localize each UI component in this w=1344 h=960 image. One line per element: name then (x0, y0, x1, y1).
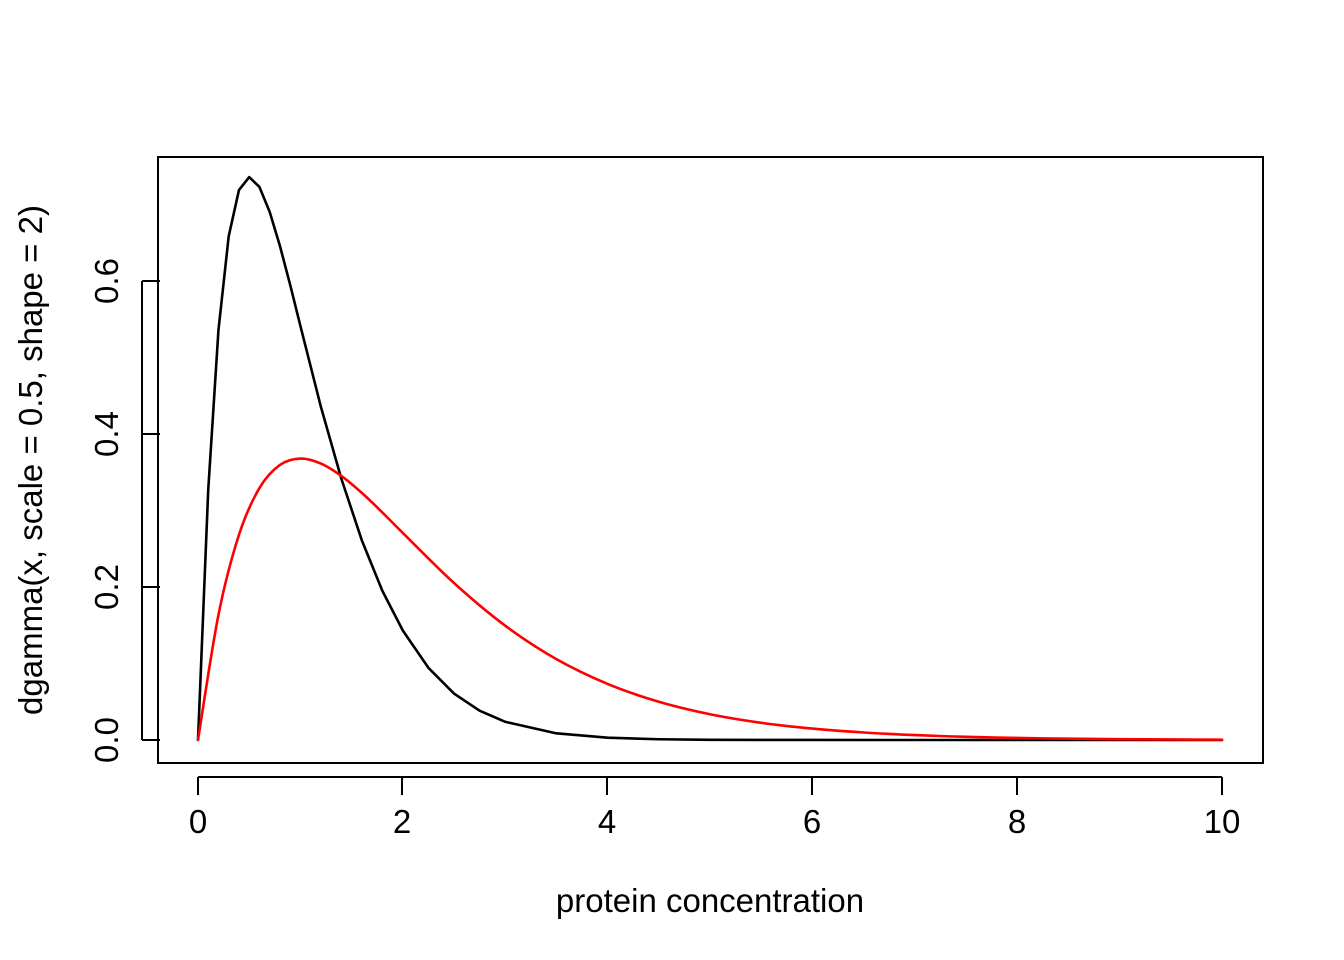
chart-figure: 0 2 4 6 8 10 0.0 0.2 0.4 0.6 protein con… (0, 0, 1344, 960)
y-tick-label-0: 0.0 (88, 717, 125, 763)
plot-frame-box (158, 157, 1263, 763)
y-tick-label-3: 0.6 (88, 258, 125, 304)
gamma-density-plot: 0 2 4 6 8 10 0.0 0.2 0.4 0.6 protein con… (0, 0, 1344, 960)
curve-black-scale-0.5 (198, 177, 1222, 740)
x-tick-label-1: 2 (393, 803, 411, 840)
y-tick-label-2: 0.4 (88, 411, 125, 457)
y-axis-title: dgamma(x, scale = 0.5, shape = 2) (12, 205, 49, 715)
x-axis-title: protein concentration (556, 882, 864, 919)
y-tick-label-1: 0.2 (88, 564, 125, 610)
x-tick-label-3: 6 (803, 803, 821, 840)
x-axis-ticks (198, 777, 1222, 795)
data-curves (198, 177, 1222, 740)
x-tick-label-0: 0 (189, 803, 207, 840)
x-tick-label-5: 10 (1204, 803, 1241, 840)
x-tick-label-4: 8 (1008, 803, 1026, 840)
curve-red-scale-1 (198, 459, 1222, 740)
x-tick-label-2: 4 (598, 803, 616, 840)
